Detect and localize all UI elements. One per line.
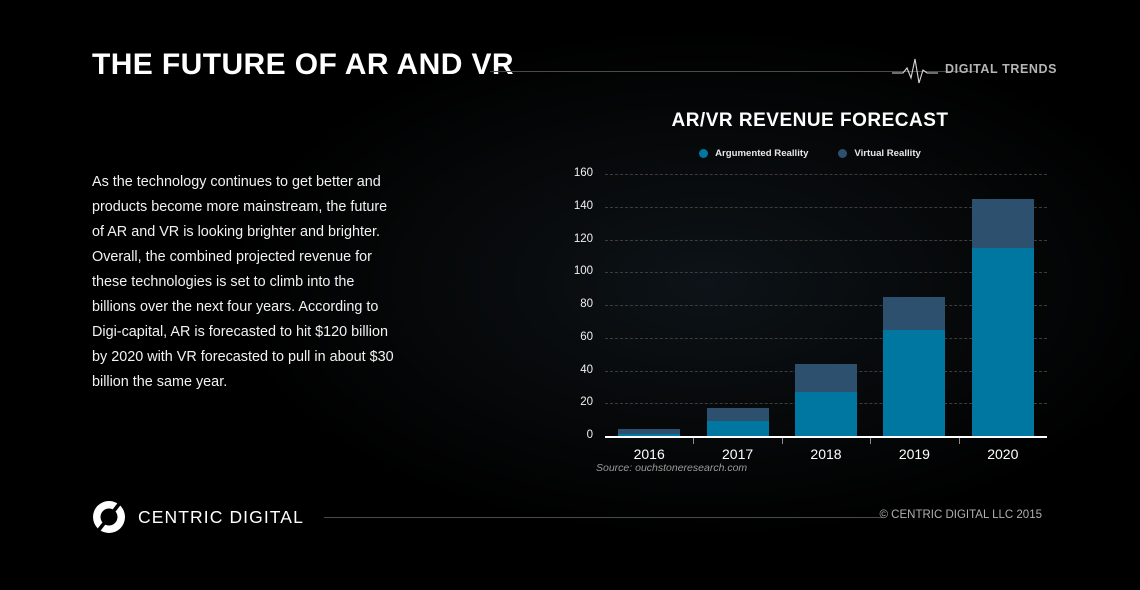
infographic-canvas: THE FUTURE OF AR AND VR DIGITAL TRENDS A… bbox=[0, 0, 1140, 590]
bar-segment-ar[interactable] bbox=[883, 330, 945, 436]
y-tick-label: 100 bbox=[553, 265, 593, 277]
bar-2020[interactable] bbox=[972, 199, 1034, 436]
digital-trends-label: DIGITAL TRENDS bbox=[945, 62, 1057, 76]
legend-swatch-ar bbox=[699, 149, 708, 158]
y-tick-label: 160 bbox=[553, 167, 593, 179]
x-axis-tick bbox=[782, 438, 783, 444]
plot-area: 020406080100120140160 201620172018201920… bbox=[605, 174, 1047, 436]
x-axis-tick bbox=[959, 438, 960, 444]
x-tick-label-2019: 2019 bbox=[870, 446, 958, 462]
footer: CENTRIC DIGITAL © CENTRIC DIGITAL LLC 20… bbox=[92, 498, 1042, 538]
bar-segment-vr[interactable] bbox=[883, 297, 945, 330]
x-axis-tick bbox=[693, 438, 694, 444]
y-tick-label: 80 bbox=[553, 298, 593, 310]
bar-segment-vr[interactable] bbox=[795, 364, 857, 392]
bar-2018[interactable] bbox=[795, 364, 857, 436]
x-axis-line bbox=[605, 436, 1047, 438]
x-tick-label-2017: 2017 bbox=[694, 446, 782, 462]
chart-legend: Argumented Reallity Virtual Reallity bbox=[560, 148, 1060, 159]
legend-label-vr: Virtual Reallity bbox=[854, 148, 920, 159]
y-tick-label: 120 bbox=[553, 233, 593, 245]
bar-segment-ar[interactable] bbox=[972, 248, 1034, 436]
centric-digital-circle-logo bbox=[92, 500, 126, 534]
x-tick-label-2016: 2016 bbox=[605, 446, 693, 462]
chart-title: AR/VR REVENUE FORECAST bbox=[560, 110, 1060, 132]
legend-item-vr[interactable]: Virtual Reallity bbox=[838, 148, 920, 159]
x-tick-label-2018: 2018 bbox=[782, 446, 870, 462]
y-tick-label: 0 bbox=[553, 429, 593, 441]
legend-item-ar[interactable]: Argumented Reallity bbox=[699, 148, 808, 159]
y-tick-label: 20 bbox=[553, 396, 593, 408]
footer-divider bbox=[324, 517, 882, 518]
x-axis-tick bbox=[870, 438, 871, 444]
y-tick-label: 140 bbox=[553, 200, 593, 212]
revenue-forecast-chart: AR/VR REVENUE FORECAST Argumented Realli… bbox=[560, 104, 1060, 490]
bar-2019[interactable] bbox=[883, 297, 945, 436]
legend-swatch-vr bbox=[838, 149, 847, 158]
page-title: THE FUTURE OF AR AND VR bbox=[92, 48, 514, 82]
bar-segment-vr[interactable] bbox=[972, 199, 1034, 248]
chart-source-note: Source: ouchstoneresearch.com bbox=[596, 462, 747, 474]
brand-name: CENTRIC DIGITAL bbox=[138, 507, 304, 528]
intro-paragraph: As the technology continues to get bette… bbox=[92, 170, 402, 395]
y-tick-label: 60 bbox=[553, 331, 593, 343]
heartbeat-pulse-icon bbox=[892, 56, 938, 86]
header: THE FUTURE OF AR AND VR DIGITAL TRENDS bbox=[92, 48, 1048, 92]
bar-2017[interactable] bbox=[707, 408, 769, 436]
copyright-text: © CENTRIC DIGITAL LLC 2015 bbox=[880, 509, 1043, 521]
y-tick-label: 40 bbox=[553, 364, 593, 376]
x-tick-label-2020: 2020 bbox=[959, 446, 1047, 462]
gridline bbox=[605, 174, 1047, 175]
legend-label-ar: Argumented Reallity bbox=[715, 148, 808, 159]
bar-segment-ar[interactable] bbox=[795, 392, 857, 436]
bar-segment-ar[interactable] bbox=[707, 421, 769, 436]
bar-segment-vr[interactable] bbox=[707, 408, 769, 421]
bar-segment-vr[interactable] bbox=[618, 429, 680, 434]
